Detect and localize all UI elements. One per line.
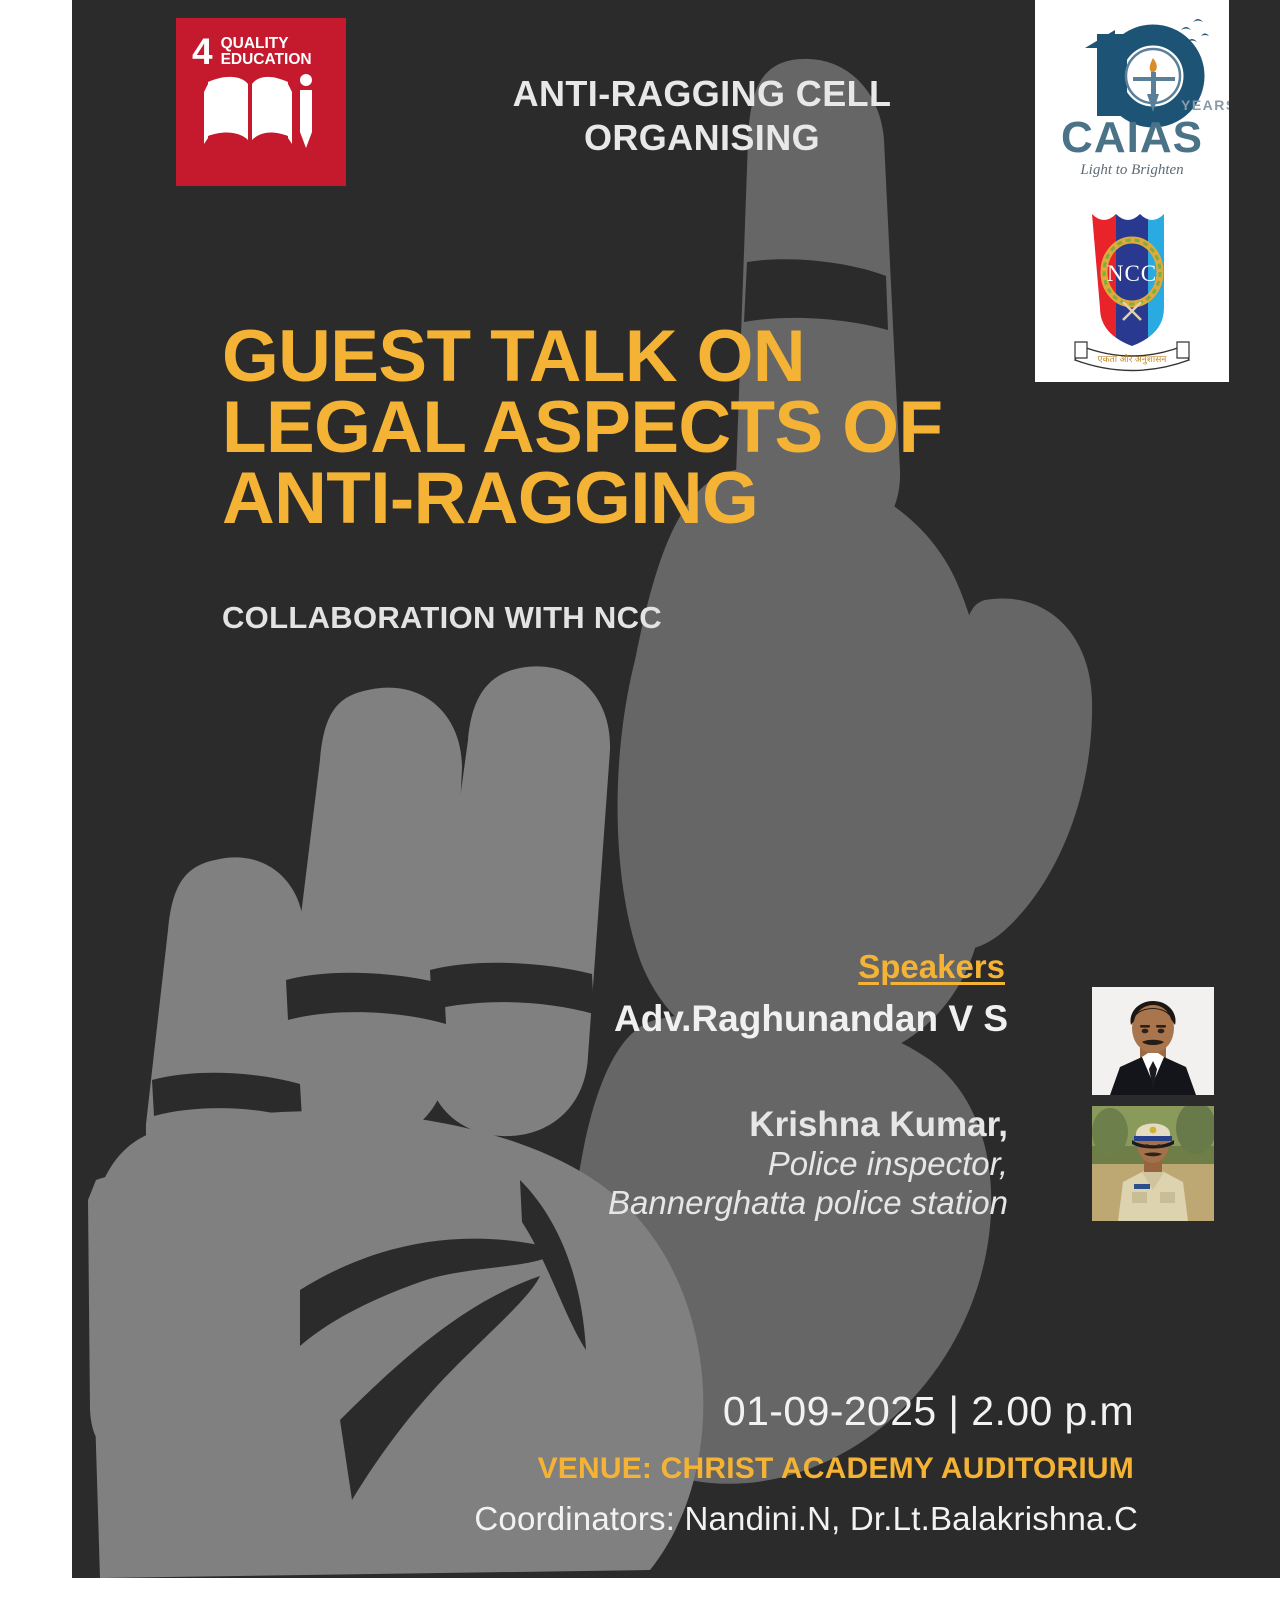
speaker-2-name: Krishna Kumar, <box>608 1104 1008 1145</box>
sdg-4-quality-education-logo: 4 QUALITY EDUCATION <box>176 18 346 186</box>
sdg-logo-caption: 4 QUALITY EDUCATION <box>176 18 346 68</box>
title-line-1: GUEST TALK ON <box>222 322 1052 393</box>
speaker-2-details: Krishna Kumar, Police inspector, Bannerg… <box>608 1104 1008 1223</box>
speaker-2-role: Police inspector, <box>608 1145 1008 1184</box>
svg-text:YEARS: YEARS <box>1181 97 1229 113</box>
event-venue: VENUE: CHRIST ACADEMY AUDITORIUM <box>538 1452 1134 1486</box>
header-line-2: ORGANISING <box>372 116 1032 160</box>
institution-logo-stack: YEARS CAIAS Light to Brighten <box>1035 0 1229 382</box>
event-date-time: 01-09-2025 | 2.00 p.m <box>723 1388 1134 1435</box>
header-line-1: ANTI-RAGGING CELL <box>372 72 1032 116</box>
ncc-crest-logo: NCC एकता और अनुशासन <box>1035 196 1229 382</box>
svg-text:Light to Brighten: Light to Brighten <box>1079 162 1183 178</box>
speaker-2-organisation: Bannerghatta police station <box>608 1184 1008 1223</box>
speaker-1-photo <box>1092 987 1214 1095</box>
speakers-heading: Speakers <box>858 948 1005 986</box>
title-line-3: ANTI-RAGGING <box>222 464 1052 535</box>
poster-canvas: 4 QUALITY EDUCATION <box>72 0 1280 1578</box>
sdg-goal-title-line2: EDUCATION <box>221 52 312 68</box>
speaker-1-name: Adv.Raghunandan V S <box>614 998 1008 1040</box>
sdg-goal-title-line1: QUALITY <box>221 36 312 52</box>
event-poster: 4 QUALITY EDUCATION <box>0 0 1280 1600</box>
svg-text:NCC: NCC <box>1107 261 1157 286</box>
open-book-and-pencil-icon <box>176 68 346 186</box>
poster-subtitle: COLLABORATION WITH NCC <box>222 600 662 636</box>
speaker-2-photo <box>1092 1106 1214 1221</box>
poster-header: ANTI-RAGGING CELL ORGANISING <box>372 72 1032 160</box>
sdg-goal-title: QUALITY EDUCATION <box>221 36 312 68</box>
sdg-goal-number: 4 <box>192 36 212 68</box>
event-coordinators: Coordinators: Nandini.N, Dr.Lt.Balakrish… <box>474 1500 1138 1538</box>
svg-text:CAIAS: CAIAS <box>1061 113 1203 162</box>
caias-10-years-logo: YEARS CAIAS Light to Brighten <box>1035 0 1229 196</box>
ncc-motto-text: एकता और अनुशासन <box>1098 353 1168 365</box>
title-line-2: LEGAL ASPECTS OF <box>222 393 1052 464</box>
poster-main-title: GUEST TALK ON LEGAL ASPECTS OF ANTI-RAGG… <box>222 322 1052 534</box>
